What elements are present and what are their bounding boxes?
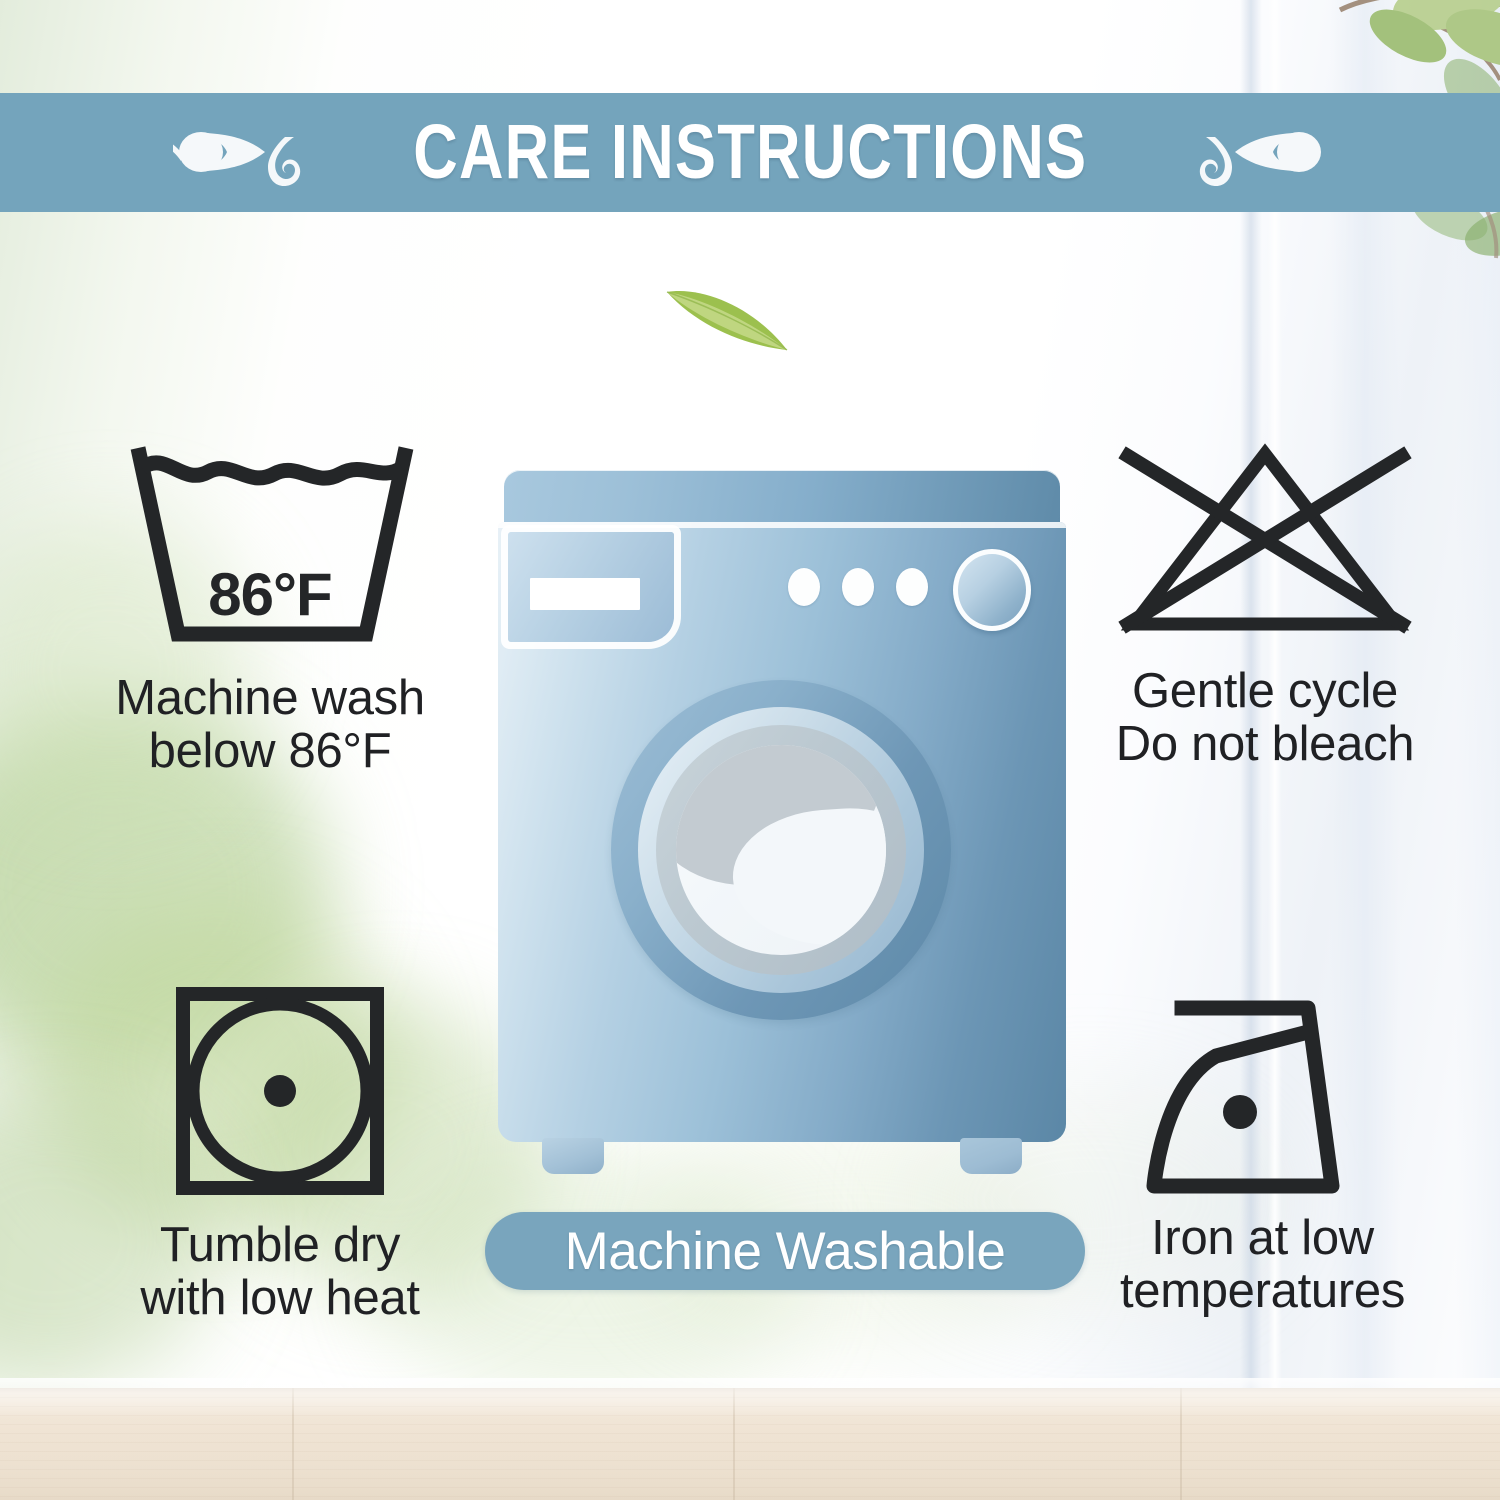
page-title: CARE INSTRUCTIONS xyxy=(408,114,1092,191)
green-leaf-icon xyxy=(663,284,791,354)
tumble-dry-icon-wrap xyxy=(45,985,515,1197)
washer-door-inner-ring xyxy=(656,725,906,975)
indicator-light xyxy=(788,568,820,606)
do-not-bleach-triangle-icon xyxy=(1110,438,1420,643)
do-not-bleach-icon-wrap xyxy=(1040,438,1490,643)
washing-machine-illustration xyxy=(498,470,1068,1190)
badge-label: Machine Washable xyxy=(565,1221,1006,1282)
indicator-light xyxy=(842,568,874,606)
wooden-table-surface xyxy=(0,1388,1500,1500)
fleur-de-lis-right-icon xyxy=(1177,105,1327,200)
washer-top-lid xyxy=(504,470,1060,526)
indicator-lights xyxy=(788,568,928,606)
detergent-drawer xyxy=(508,532,674,642)
washer-door-mid-ring xyxy=(638,707,924,993)
care-item-do-not-bleach: Gentle cycle Do not bleach xyxy=(1040,438,1490,771)
iron-low-temperature-icon xyxy=(1132,990,1394,1196)
program-dial-knob xyxy=(953,549,1031,631)
tumble-dry-low-heat-icon xyxy=(174,985,386,1197)
washer-foot xyxy=(542,1138,604,1174)
care-item-iron-low: Iron at low temperatures xyxy=(1035,990,1490,1318)
care-item-label: Tumble dry with low heat xyxy=(45,1219,515,1325)
care-item-label: Machine wash below 86°F xyxy=(35,672,505,778)
indicator-light xyxy=(896,568,928,606)
care-item-label: Gentle cycle Do not bleach xyxy=(1040,665,1490,771)
machine-washable-badge: Machine Washable xyxy=(485,1212,1085,1290)
washer-foot xyxy=(960,1138,1022,1174)
washer-door-outer-ring xyxy=(611,680,951,1020)
wash-temperature-value: 86°F xyxy=(208,560,331,629)
iron-icon-wrap xyxy=(1035,990,1490,1196)
washer-door-glass xyxy=(676,745,886,955)
washer-body xyxy=(498,522,1066,1142)
table-light-haze xyxy=(0,1378,1500,1418)
care-item-machine-wash: 86°F Machine wash below 86°F xyxy=(35,438,505,778)
washer-panel-gap xyxy=(498,522,1066,528)
fleur-de-lis-left-icon xyxy=(173,105,323,200)
care-item-label: Iron at low temperatures xyxy=(1035,1212,1490,1318)
drawer-handle-slot xyxy=(530,578,640,610)
header-banner: CARE INSTRUCTIONS xyxy=(0,93,1500,212)
care-item-tumble-dry: Tumble dry with low heat xyxy=(45,985,515,1325)
washer-drum-shadow xyxy=(676,745,886,892)
